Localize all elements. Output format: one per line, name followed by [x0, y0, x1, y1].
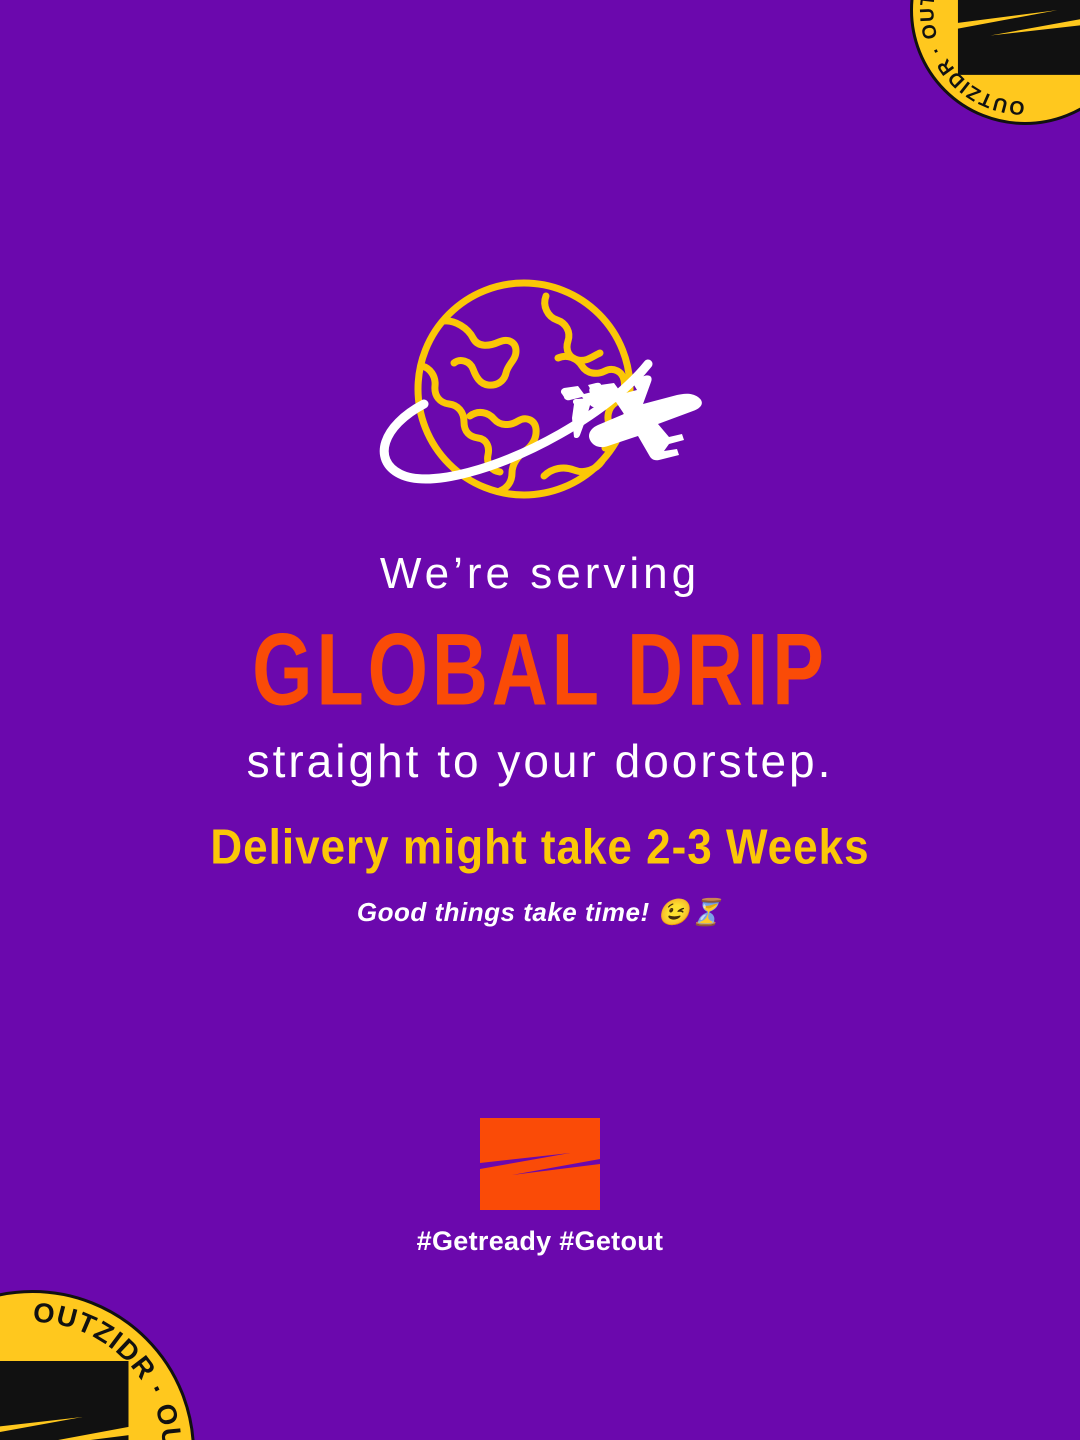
badge-core: OUTZIDR — [953, 0, 1080, 77]
headline-line-1: We’re serving — [0, 548, 1080, 600]
delivery-block: Delivery might take 2-3 Weeks Good thing… — [0, 822, 1080, 928]
promo-poster: OUTZIDR · OUTZIDR · OUTZIDR · OUTZIDR · … — [0, 0, 1080, 1440]
z-logo-icon — [0, 1357, 135, 1440]
hashtags-label: #Getready #Getout — [417, 1226, 664, 1257]
headline-line-3: straight to your doorstep. — [0, 734, 1080, 788]
headline-block: We’re serving GLOBAL DRIP straight to yo… — [0, 548, 1080, 789]
z-logo-icon — [478, 1118, 602, 1210]
z-logo-icon — [953, 0, 1080, 77]
footer-brand-block: #Getready #Getout — [0, 1118, 1080, 1257]
badge-core: OUTZIDR — [0, 1357, 135, 1440]
outzidr-stamp-badge-top-right: OUTZIDR · OUTZIDR · OUTZIDR · OUTZIDR · … — [910, 0, 1080, 125]
headline-line-2: GLOBAL DRIP — [16, 610, 1064, 731]
outzidr-stamp-badge-bottom-left: OUTZIDR · OUTZIDR · OUTZIDR · OUTZIDR · … — [0, 1290, 195, 1440]
globe-airplane-illustration — [360, 276, 720, 506]
delivery-headline: Delivery might take 2-3 Weeks — [0, 819, 1080, 878]
delivery-subtext: Good things take time! 😉⏳ — [0, 897, 1080, 928]
